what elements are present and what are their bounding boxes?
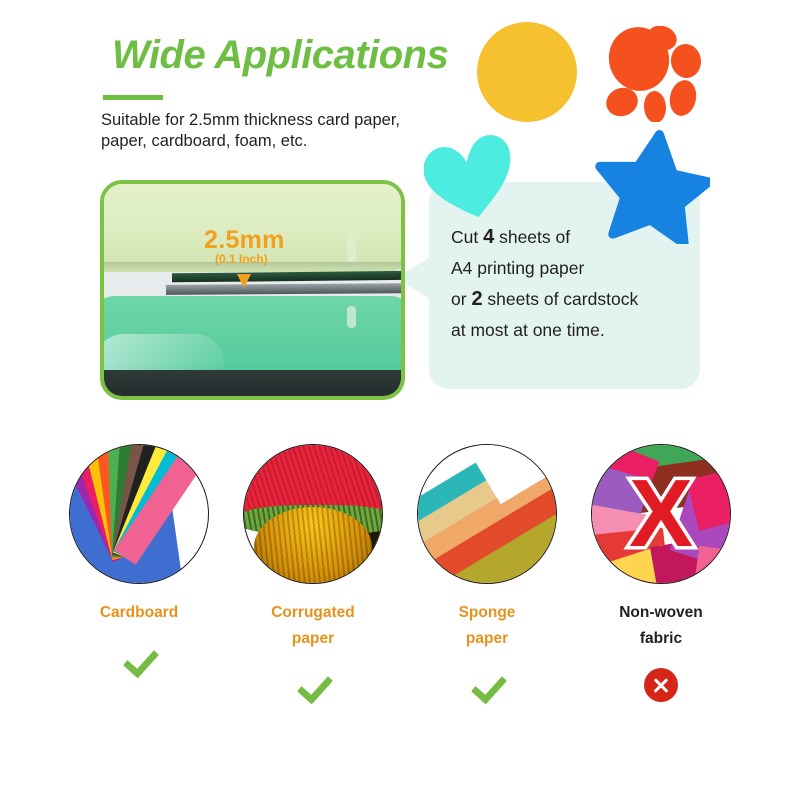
product-photo: 2.5mm (0.1 Inch)	[100, 180, 405, 400]
corrugated-gold-roll	[254, 507, 372, 584]
check-icon	[122, 642, 156, 676]
material-label: Non-woven fabric	[585, 600, 737, 652]
product-photo-inner: 2.5mm (0.1 Inch)	[104, 184, 401, 396]
callout-line1-post: sheets of	[494, 227, 570, 247]
callout-line3-pre: or	[451, 289, 471, 309]
material-support-mark	[63, 642, 215, 682]
yellow-circle-decoration	[477, 22, 577, 122]
heart-icon	[424, 134, 516, 220]
callout-line1-pre: Cut	[451, 227, 483, 247]
cross-icon	[644, 668, 678, 702]
title-underline	[103, 95, 163, 100]
corrugated-paper-image	[243, 444, 383, 584]
page-subtitle: Suitable for 2.5mm thickness card paper,…	[101, 110, 431, 152]
material-label-line1: Non-woven	[585, 600, 737, 626]
sponge-paper-image	[417, 444, 557, 584]
cutter-base-shadow	[100, 370, 405, 400]
material-label: Cardboard	[63, 600, 215, 626]
material-support-mark	[411, 668, 563, 708]
cardboard-image	[69, 444, 209, 584]
callout-line-1: Cut 4 sheets of	[451, 222, 701, 253]
material-label-line1: Cardboard	[63, 600, 215, 626]
check-icon	[470, 668, 504, 702]
thickness-label: 2.5mm	[204, 226, 285, 255]
non-woven-fabric-image: X	[591, 444, 731, 584]
thickness-pointer-icon	[237, 274, 251, 288]
callout-line-4: at most at one time.	[451, 315, 701, 346]
not-supported-x-icon: X	[629, 466, 693, 562]
cutter-peg-upper	[347, 236, 356, 262]
cutter-blade-lower	[166, 283, 405, 295]
material-item: X Non-woven fabric	[585, 444, 737, 708]
callout-text: Cut 4 sheets of A4 printing paper or 2 s…	[451, 222, 701, 346]
material-label-line2: fabric	[585, 626, 737, 652]
materials-row: Cardboard Corrugated paper	[0, 444, 800, 708]
material-label-line2: paper	[411, 626, 563, 652]
material-label-line1: Corrugated	[237, 600, 389, 626]
page-title: Wide Applications	[112, 33, 448, 78]
material-label-line1: Sponge	[411, 600, 563, 626]
cardboard-fan-sheets	[116, 444, 146, 575]
cutter-peg-lower	[347, 306, 356, 328]
callout-line-3: or 2 sheets of cardstock	[451, 284, 701, 315]
material-item: Cardboard	[63, 444, 215, 708]
callout-line3-post: sheets of cardstock	[483, 289, 639, 309]
material-item: Corrugated paper	[237, 444, 389, 708]
fabric-scrap	[693, 546, 731, 584]
material-item: Sponge paper	[411, 444, 563, 708]
material-label-line2: paper	[237, 626, 389, 652]
corrugated-ribs	[254, 507, 372, 584]
callout-line-2: A4 printing paper	[451, 253, 701, 284]
material-support-mark	[585, 668, 737, 708]
check-icon	[296, 668, 330, 702]
material-support-mark	[237, 668, 389, 708]
callout-line1-number: 4	[483, 226, 494, 248]
callout-line3-number: 2	[471, 288, 482, 310]
material-label: Corrugated paper	[237, 600, 389, 652]
thickness-sublabel: (0.1 Inch)	[215, 252, 268, 266]
material-label: Sponge paper	[411, 600, 563, 652]
paw-print-icon	[602, 26, 708, 122]
